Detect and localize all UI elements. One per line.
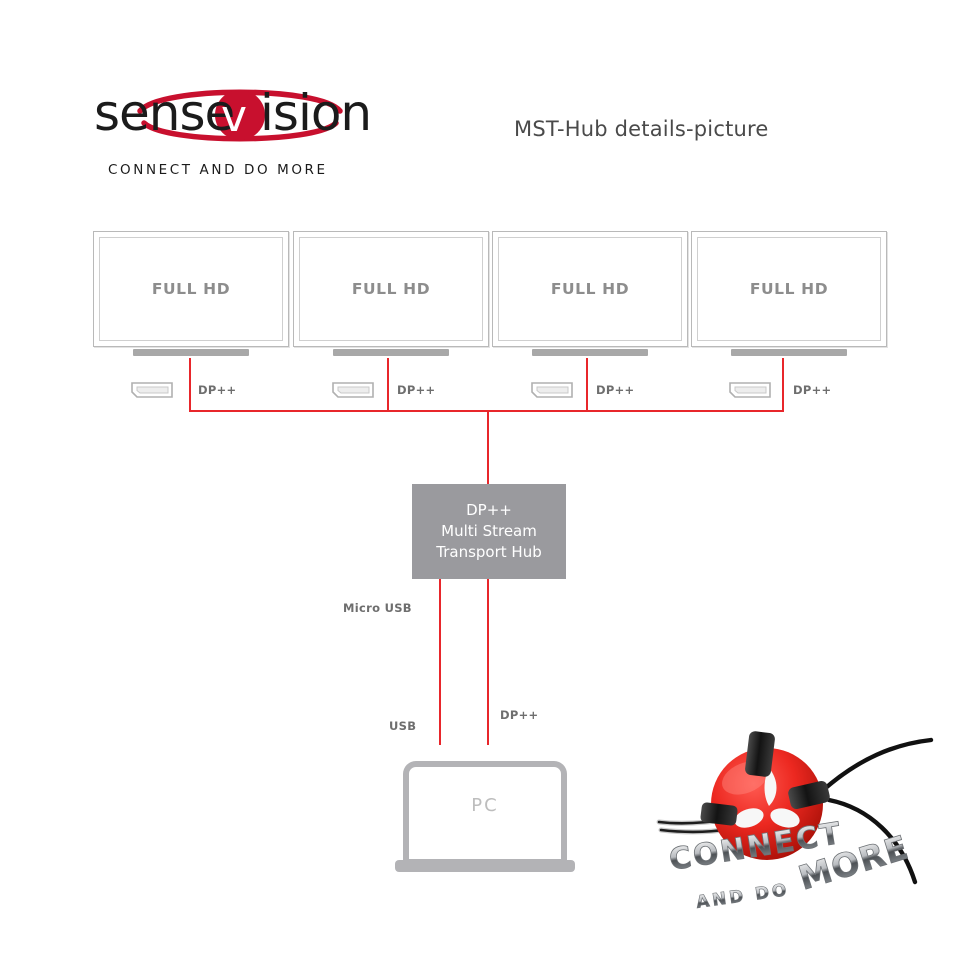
wire-monitor-4-drop <box>782 358 784 411</box>
product-photo: CONNECT MORE AND DO <box>645 722 935 922</box>
sensevision-wordmark-icon: sense v ision <box>88 78 388 150</box>
monitor-1-stand <box>133 349 249 356</box>
svg-text:ision: ision <box>260 84 371 142</box>
displayport-connector-icon-4 <box>729 382 771 398</box>
wire-bus-to-hub <box>487 410 489 485</box>
displayport-connector-icon-2 <box>332 382 374 398</box>
monitor-3-label: FULL HD <box>551 280 629 298</box>
monitor-4-screen: FULL HD <box>697 237 881 341</box>
monitor-3-screen: FULL HD <box>498 237 682 341</box>
monitor-1-screen: FULL HD <box>99 237 283 341</box>
monitor-1-label: FULL HD <box>152 280 230 298</box>
pc-laptop: PC <box>395 761 575 876</box>
product-photo-illustration: CONNECT MORE AND DO <box>645 722 935 922</box>
monitor-1: FULL HD <box>93 231 289 347</box>
wire-monitor-2-drop <box>387 358 389 411</box>
cable-label-dp-downlink: DP++ <box>500 708 538 722</box>
wire-hub-to-pc-usb <box>439 579 441 745</box>
monitor-2: FULL HD <box>293 231 489 347</box>
page-title: MST-Hub details-picture <box>514 117 769 141</box>
wire-monitor-1-drop <box>189 358 191 411</box>
pc-base <box>395 860 575 872</box>
monitor-4-label: FULL HD <box>750 280 828 298</box>
hub-line-3: Transport Hub <box>436 542 541 563</box>
svg-text:AND DO: AND DO <box>695 880 791 913</box>
cable-label-dp-2: DP++ <box>397 383 435 397</box>
cable-label-dp-4: DP++ <box>793 383 831 397</box>
svg-text:v: v <box>221 91 247 142</box>
monitor-2-stand <box>333 349 449 356</box>
monitor-2-screen: FULL HD <box>299 237 483 341</box>
svg-text:sense: sense <box>94 84 234 142</box>
wire-monitor-3-drop <box>586 358 588 411</box>
hub-line-2: Multi Stream <box>441 521 537 542</box>
cable-label-usb: USB <box>389 719 416 733</box>
brand-tagline: CONNECT AND DO MORE <box>108 162 328 178</box>
brand-logo: sense v ision CONNECT AND DO MORE <box>88 78 388 188</box>
displayport-connector-icon-1 <box>131 382 173 398</box>
mst-hub-box: DP++ Multi Stream Transport Hub <box>412 484 566 579</box>
monitor-4: FULL HD <box>691 231 887 347</box>
pc-label: PC <box>395 795 575 816</box>
monitor-2-label: FULL HD <box>352 280 430 298</box>
diagram-canvas: sense v ision CONNECT AND DO MORE MST-Hu… <box>0 0 960 960</box>
wire-hub-to-pc-dp <box>487 579 489 745</box>
monitor-4-stand <box>731 349 847 356</box>
cable-label-micro-usb: Micro USB <box>343 601 412 615</box>
monitor-3-stand <box>532 349 648 356</box>
displayport-connector-icon-3 <box>531 382 573 398</box>
hub-line-1: DP++ <box>466 500 512 521</box>
monitor-3: FULL HD <box>492 231 688 347</box>
cable-label-dp-3: DP++ <box>596 383 634 397</box>
cable-label-dp-1: DP++ <box>198 383 236 397</box>
